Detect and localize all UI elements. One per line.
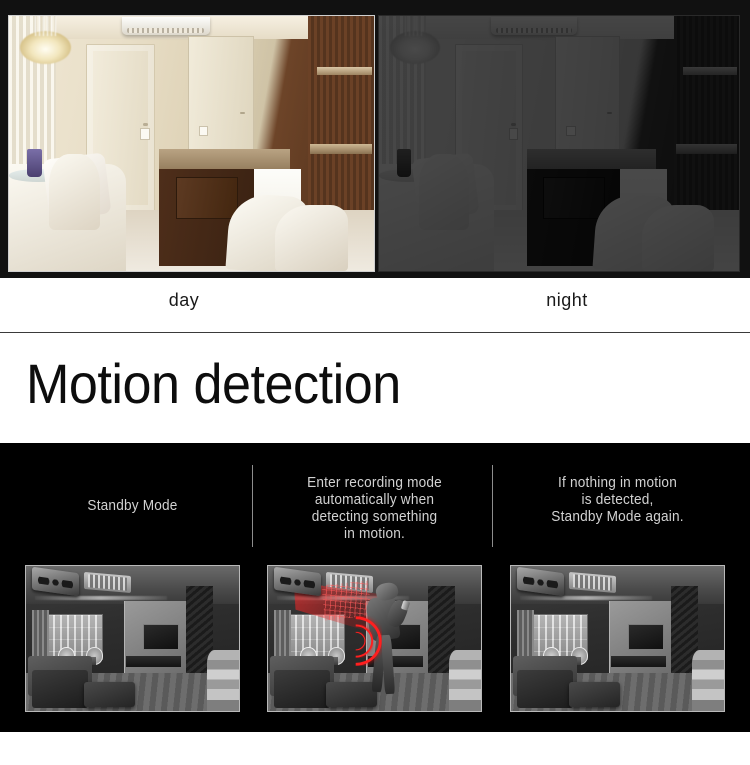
- night-photo: [378, 15, 740, 272]
- dining-chair-far: [642, 205, 714, 271]
- light-switch-right: [199, 126, 208, 137]
- bedroom-scene: [268, 566, 481, 711]
- tv-stand: [611, 656, 666, 668]
- motion-step-label-3: If nothing in motionis detected,Standby …: [516, 475, 718, 526]
- cove-lighting: [520, 596, 652, 600]
- air-conditioner: [122, 17, 210, 35]
- motion-step-label-2: Enter recording modeautomatically whende…: [273, 475, 475, 543]
- sofa-front: [517, 670, 572, 708]
- armchair: [49, 154, 100, 231]
- product-feature-page: day night Motion detection Standby Mode …: [0, 0, 750, 765]
- vase: [397, 149, 411, 177]
- sofa-front: [274, 670, 329, 708]
- day-room-scene: [9, 16, 374, 271]
- tv-stand: [126, 656, 181, 668]
- motion-detection-panel: Standby Mode Enter recording modeautomat…: [0, 443, 750, 732]
- television: [628, 624, 664, 650]
- column-divider-2: [492, 465, 493, 547]
- shelf-lower: [310, 144, 372, 154]
- dining-chair-far: [275, 205, 348, 271]
- bedroom-scene: [511, 566, 724, 711]
- shelf-upper: [683, 67, 737, 75]
- caption-night: night: [378, 290, 750, 311]
- signal-arc-outer: [329, 617, 382, 667]
- vase: [27, 149, 42, 177]
- stairs: [449, 650, 481, 711]
- day-photo: [8, 15, 375, 272]
- ottoman: [569, 682, 620, 707]
- motion-signal-waves-icon: [328, 615, 383, 667]
- stairs: [692, 650, 724, 711]
- column-divider-1: [252, 465, 253, 547]
- sofa-front: [32, 670, 87, 708]
- light-switch-right: [566, 126, 575, 137]
- motion-step-image-3: [510, 565, 725, 712]
- motion-step-image-2: [267, 565, 482, 712]
- ottoman: [84, 682, 135, 707]
- shelf-upper: [317, 67, 372, 75]
- light-switch-left: [140, 128, 149, 139]
- armchair: [419, 154, 469, 231]
- bedroom-scene: [26, 566, 239, 711]
- shelf-lower: [676, 144, 737, 154]
- television: [143, 624, 179, 650]
- intruder-leg-right: [381, 635, 395, 694]
- comparison-captions: day night: [0, 278, 750, 332]
- motion-step-label-1: Standby Mode: [31, 498, 233, 515]
- night-room-scene: [379, 16, 739, 271]
- air-conditioner: [491, 17, 577, 35]
- light-switch-left: [509, 128, 518, 139]
- motion-step-image-1: [25, 565, 240, 712]
- caption-day: day: [0, 290, 368, 311]
- day-night-comparison: [0, 0, 750, 278]
- page-title: Motion detection: [26, 351, 401, 416]
- stairs: [207, 650, 239, 711]
- heading-band: Motion detection: [0, 333, 750, 443]
- cove-lighting: [35, 596, 167, 600]
